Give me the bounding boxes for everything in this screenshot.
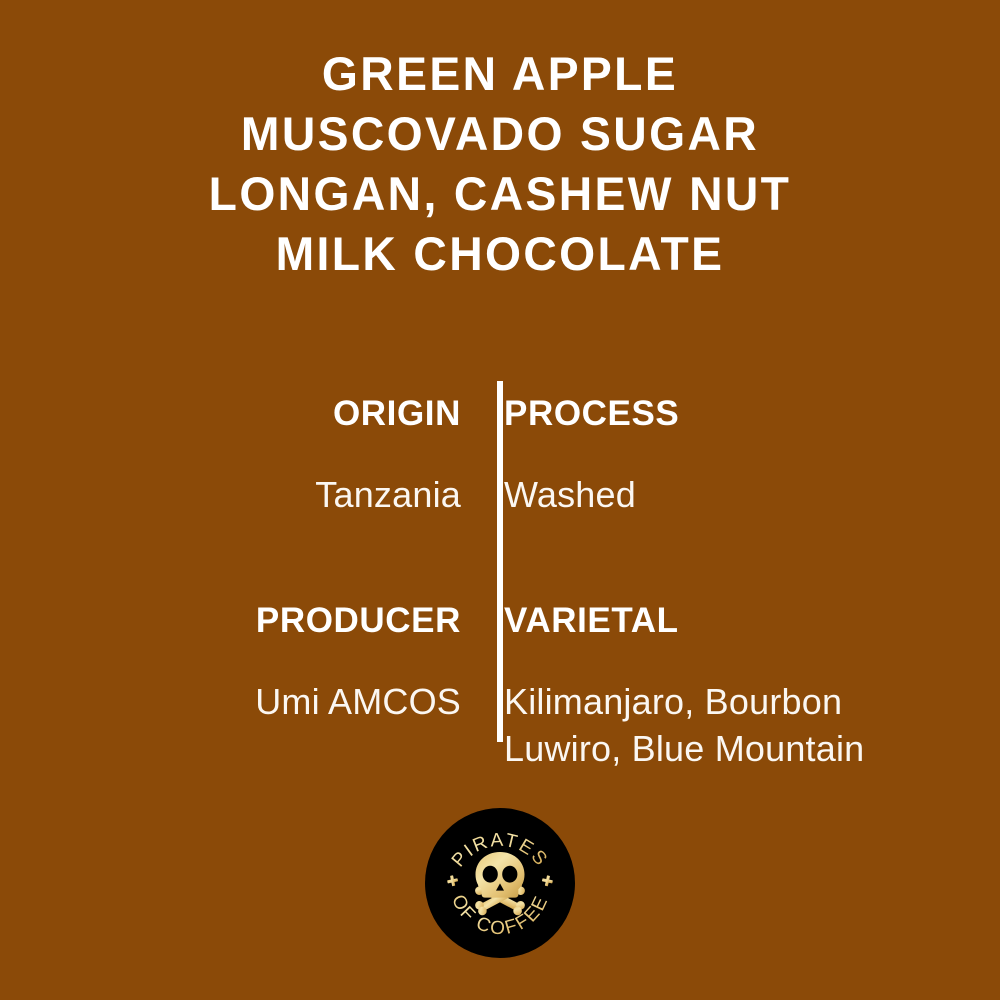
skull-icon: [476, 852, 525, 898]
tasting-note-line-3: LONGAN, CASHEW NUT: [8, 164, 993, 224]
spec-label-producer: PRODUCER: [0, 600, 461, 642]
brand-logo-badge: PIRATES OF COFFEE: [425, 808, 575, 958]
tasting-notes: GREEN APPLE MUSCOVADO SUGAR LONGAN, CASH…: [0, 44, 1000, 284]
spec-label-origin: ORIGIN: [0, 393, 461, 435]
spec-row-producer-varietal: PRODUCER Umi AMCOS VARIETAL Kilimanjaro,…: [0, 600, 1000, 772]
tasting-note-line-4: MILK CHOCOLATE: [8, 224, 993, 284]
spec-label-varietal: VARIETAL: [504, 600, 1000, 642]
spec-cell-producer: PRODUCER Umi AMCOS: [0, 600, 461, 725]
spec-value-varietal-line-1: Kilimanjaro, Bourbon: [504, 678, 1000, 725]
spec-cell-origin: ORIGIN Tanzania: [0, 393, 461, 518]
spec-value-origin: Tanzania: [0, 471, 461, 518]
tasting-note-line-2: MUSCOVADO SUGAR: [8, 104, 993, 164]
spec-grid: ORIGIN Tanzania PROCESS Washed PRODUCER …: [0, 381, 1000, 781]
spec-row-origin-process: ORIGIN Tanzania PROCESS Washed: [0, 393, 1000, 518]
spec-cell-varietal: VARIETAL Kilimanjaro, Bourbon Luwiro, Bl…: [461, 600, 1000, 772]
spec-value-process: Washed: [504, 471, 1000, 518]
spec-cell-process: PROCESS Washed: [461, 393, 1000, 518]
spec-value-varietal-line-2: Luwiro, Blue Mountain: [504, 725, 1000, 772]
coffee-label-card: GREEN APPLE MUSCOVADO SUGAR LONGAN, CASH…: [0, 0, 1000, 1000]
spec-label-process: PROCESS: [504, 393, 1000, 435]
spec-value-producer: Umi AMCOS: [0, 678, 461, 725]
tasting-note-line-1: GREEN APPLE: [8, 44, 993, 104]
spec-value-varietal: Kilimanjaro, Bourbon Luwiro, Blue Mounta…: [504, 678, 1000, 772]
